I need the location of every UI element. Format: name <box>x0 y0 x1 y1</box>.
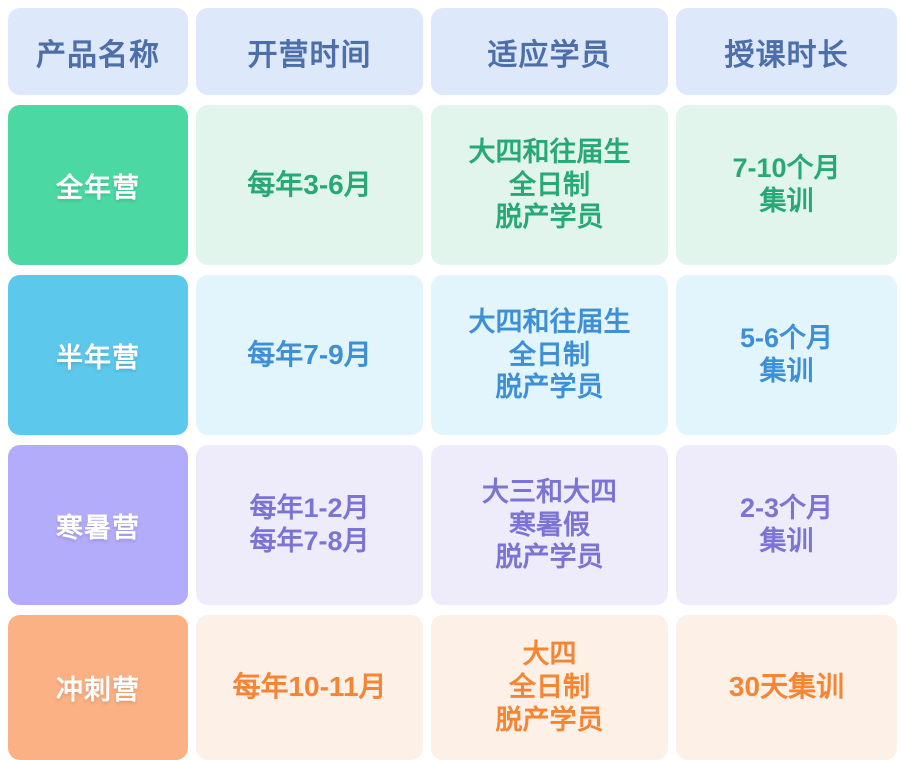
cell-product-name: 全年营 <box>8 105 188 265</box>
cell-product-name: 冲刺营 <box>8 615 188 760</box>
start-time-lines: 每年1-2月 每年7-8月 <box>249 492 369 558</box>
cell-start-time: 每年1-2月 每年7-8月 <box>196 445 423 605</box>
text-line: 每年7-8月 <box>249 525 369 558</box>
column-header-product-name: 产品名称 <box>8 8 188 95</box>
text-line: 集训 <box>760 355 814 388</box>
column-header-start-time: 开营时间 <box>196 8 423 95</box>
text-line: 集训 <box>760 525 814 558</box>
cell-start-time: 每年3-6月 <box>196 105 423 265</box>
product-name-label: 全年营 <box>56 166 140 205</box>
cell-product-name: 寒暑营 <box>8 445 188 605</box>
text-line: 每年1-2月 <box>249 492 369 525</box>
table-row: 冲刺营 每年10-11月 大四 全日制 脱产学员 30天集训 <box>8 615 893 760</box>
column-header-duration: 授课时长 <box>676 8 897 95</box>
text-line: 每年10-11月 <box>232 670 386 704</box>
text-line: 每年3-6月 <box>247 168 371 202</box>
text-line: 5-6个月 <box>740 322 833 355</box>
column-header-audience: 适应学员 <box>431 8 668 95</box>
table-header-row: 产品名称 开营时间 适应学员 授课时长 <box>8 8 893 95</box>
table-row: 全年营 每年3-6月 大四和往届生 全日制 脱产学员 7-10个月 集训 <box>8 105 893 265</box>
text-line: 大三和大四 <box>482 476 617 509</box>
cell-start-time: 每年7-9月 <box>196 275 423 435</box>
cell-audience: 大三和大四 寒暑假 脱产学员 <box>431 445 668 605</box>
text-line: 30天集训 <box>729 670 844 704</box>
duration-lines: 30天集训 <box>729 670 844 704</box>
start-time-lines: 每年7-9月 <box>247 338 371 372</box>
cell-duration: 2-3个月 集训 <box>676 445 897 605</box>
text-line: 2-3个月 <box>740 492 833 525</box>
cell-duration: 7-10个月 集训 <box>676 105 897 265</box>
text-line: 脱产学员 <box>496 541 604 574</box>
text-line: 寒暑假 <box>509 509 590 542</box>
product-name-label: 冲刺营 <box>56 668 140 707</box>
text-line: 脱产学员 <box>496 704 604 737</box>
column-header-label: 适应学员 <box>488 30 612 74</box>
table-row: 寒暑营 每年1-2月 每年7-8月 大三和大四 寒暑假 脱产学员 2-3个月 集… <box>8 445 893 605</box>
audience-lines: 大四 全日制 脱产学员 <box>496 638 604 737</box>
text-line: 每年7-9月 <box>247 338 371 372</box>
text-line: 脱产学员 <box>496 201 604 234</box>
text-line: 脱产学员 <box>496 371 604 404</box>
text-line: 全日制 <box>509 671 590 704</box>
text-line: 7-10个月 <box>732 152 840 185</box>
column-header-label: 授课时长 <box>725 30 849 74</box>
start-time-lines: 每年10-11月 <box>232 670 386 704</box>
audience-lines: 大四和往届生 全日制 脱产学员 <box>469 306 631 405</box>
duration-lines: 5-6个月 集训 <box>740 322 833 388</box>
audience-lines: 大四和往届生 全日制 脱产学员 <box>469 136 631 235</box>
text-line: 大四和往届生 <box>469 306 631 339</box>
cell-audience: 大四和往届生 全日制 脱产学员 <box>431 105 668 265</box>
cell-start-time: 每年10-11月 <box>196 615 423 760</box>
start-time-lines: 每年3-6月 <box>247 168 371 202</box>
product-name-label: 寒暑营 <box>56 506 140 545</box>
text-line: 大四和往届生 <box>469 136 631 169</box>
text-line: 大四 <box>523 638 577 671</box>
duration-lines: 7-10个月 集训 <box>732 152 840 218</box>
course-comparison-table: 产品名称 开营时间 适应学员 授课时长 全年营 每年3-6月 大四和往届生 全日… <box>0 0 901 760</box>
cell-audience: 大四和往届生 全日制 脱产学员 <box>431 275 668 435</box>
cell-duration: 30天集训 <box>676 615 897 760</box>
audience-lines: 大三和大四 寒暑假 脱产学员 <box>482 476 617 575</box>
cell-product-name: 半年营 <box>8 275 188 435</box>
product-name-label: 半年营 <box>56 336 140 375</box>
cell-audience: 大四 全日制 脱产学员 <box>431 615 668 760</box>
column-header-label: 开营时间 <box>248 30 372 74</box>
cell-duration: 5-6个月 集训 <box>676 275 897 435</box>
text-line: 全日制 <box>509 339 590 372</box>
column-header-label: 产品名称 <box>36 30 160 74</box>
text-line: 全日制 <box>509 169 590 202</box>
table-row: 半年营 每年7-9月 大四和往届生 全日制 脱产学员 5-6个月 集训 <box>8 275 893 435</box>
text-line: 集训 <box>759 185 813 218</box>
duration-lines: 2-3个月 集训 <box>740 492 833 558</box>
